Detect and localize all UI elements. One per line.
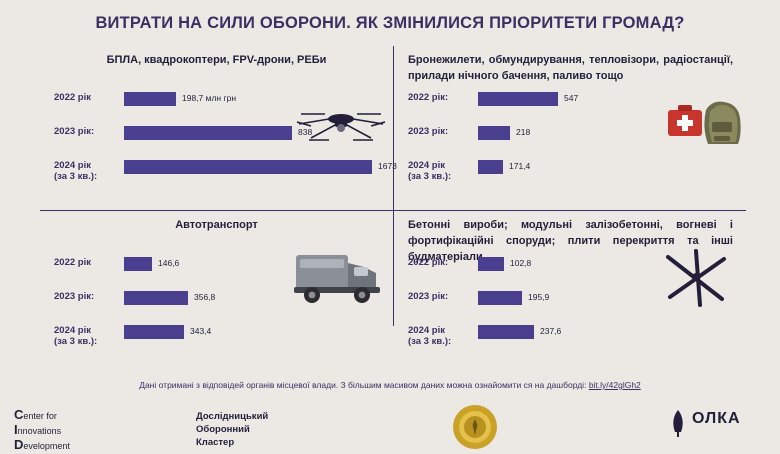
bar-value: 171,4 (509, 161, 530, 171)
bar-value: 195,9 (528, 292, 549, 302)
panel-gear: Бронежилети, обмундирування, тепловізори… (394, 46, 747, 210)
bar (478, 325, 534, 339)
quill-icon (666, 408, 690, 438)
cluster-line-3: Кластер (196, 436, 268, 449)
holka-logo: ОЛКА (692, 410, 741, 428)
concrete-hedgehog-icon (654, 247, 742, 309)
cluster-line-2: Оборонний (196, 423, 268, 436)
bar-value: 102,8 (510, 258, 531, 268)
truck-icon (290, 247, 390, 309)
bar (478, 160, 503, 174)
bar (124, 92, 176, 106)
cid-logo: Center for Innovations Development (14, 408, 70, 453)
panel-heading: Автотранспорт (40, 211, 393, 233)
panel-concrete: Бетонні вироби; модульні залізобетонні, … (394, 211, 747, 375)
page-title: ВИТРАТИ НА СИЛИ ОБОРОНИ. ЯК ЗМІНИЛИСЯ ПР… (0, 14, 780, 33)
cluster-line-1: Дослідницький (196, 410, 268, 423)
infographic-page: ВИТРАТИ НА СИЛИ ОБОРОНИ. ЯК ЗМІНИЛИСЯ ПР… (0, 0, 780, 454)
row-sublabel: (за 3 кв.): (408, 171, 474, 182)
bar (124, 126, 292, 140)
bar (124, 160, 372, 174)
bar (124, 257, 152, 271)
dashboard-link[interactable]: bit.ly/42glGh2 (589, 380, 641, 390)
row-label: 2024 рік (408, 160, 445, 171)
row-label: 2022 рік: (408, 257, 448, 268)
bar (478, 291, 522, 305)
bar (124, 291, 188, 305)
bar-value: 343,4 (190, 326, 211, 336)
defence-cluster-logo: Дослідницький Оборонний Кластер (196, 410, 268, 449)
row-sublabel: (за 3 кв.): (54, 336, 120, 347)
row-sublabel: (за 3 кв.): (54, 171, 120, 182)
bar-value: 356,8 (194, 292, 215, 302)
bar (478, 92, 558, 106)
row-label: 2024 рік (408, 325, 445, 336)
footnote: Дані отримані з відповідей органів місце… (0, 380, 780, 390)
row-label: 2024 рік (54, 325, 91, 336)
medkit-backpack-icon (666, 92, 744, 148)
cid-line-2: nnovations (18, 426, 62, 436)
row-sublabel: (за 3 кв.): (408, 336, 474, 347)
row-label: 2022 рік (54, 92, 91, 103)
holka-label: ОЛКА (692, 410, 741, 427)
row-label: 2023 рік: (408, 291, 448, 302)
bar-value: 237,6 (540, 326, 561, 336)
drone-icon (295, 94, 387, 146)
panel-transport: Автотранспорт 2022 рік 146,6 2023 рік: 3… (40, 211, 393, 375)
cid-line-1: enter for (23, 411, 57, 421)
bar (478, 257, 504, 271)
footnote-text: Дані отримані з відповідей органів місце… (139, 380, 586, 390)
bar-value: 146,6 (158, 258, 179, 268)
bar (478, 126, 510, 140)
row-label: 2023 рік: (54, 126, 94, 137)
cid-line-3: evelopment (23, 441, 70, 451)
row-label: 2023 рік: (408, 126, 448, 137)
seal-emblem-icon (452, 404, 498, 450)
panel-heading: БПЛА, квадрокоптери, FPV-дрони, РЕБи (40, 46, 393, 68)
bar-row: 2024 рік (за 3 кв.): 237,6 (408, 325, 738, 359)
bar-value: 218 (516, 127, 530, 137)
panels-grid: БПЛА, квадрокоптери, FPV-дрони, РЕБи 202… (40, 46, 746, 376)
bar-row: 2024 рік (за 3 кв.): 343,4 (54, 325, 384, 359)
bar-row: 2024 рік (за 3 кв.): 1673 (54, 160, 384, 194)
row-label: 2022 рік: (408, 92, 448, 103)
cid-cap-c: C (14, 407, 23, 422)
bar (124, 325, 184, 339)
row-label: 2023 рік: (54, 291, 94, 302)
cid-cap-d: D (14, 437, 23, 452)
panel-heading: Бронежилети, обмундирування, тепловізори… (394, 46, 747, 84)
row-label: 2024 рік (54, 160, 91, 171)
row-label: 2022 рік (54, 257, 91, 268)
bar-row: 2024 рік (за 3 кв.): 171,4 (408, 160, 738, 194)
bar-value: 547 (564, 93, 578, 103)
panel-drones: БПЛА, квадрокоптери, FPV-дрони, РЕБи 202… (40, 46, 393, 210)
logos-row: Center for Innovations Development Дослі… (0, 402, 780, 454)
bar-value: 198,7 млн грн (182, 93, 236, 103)
